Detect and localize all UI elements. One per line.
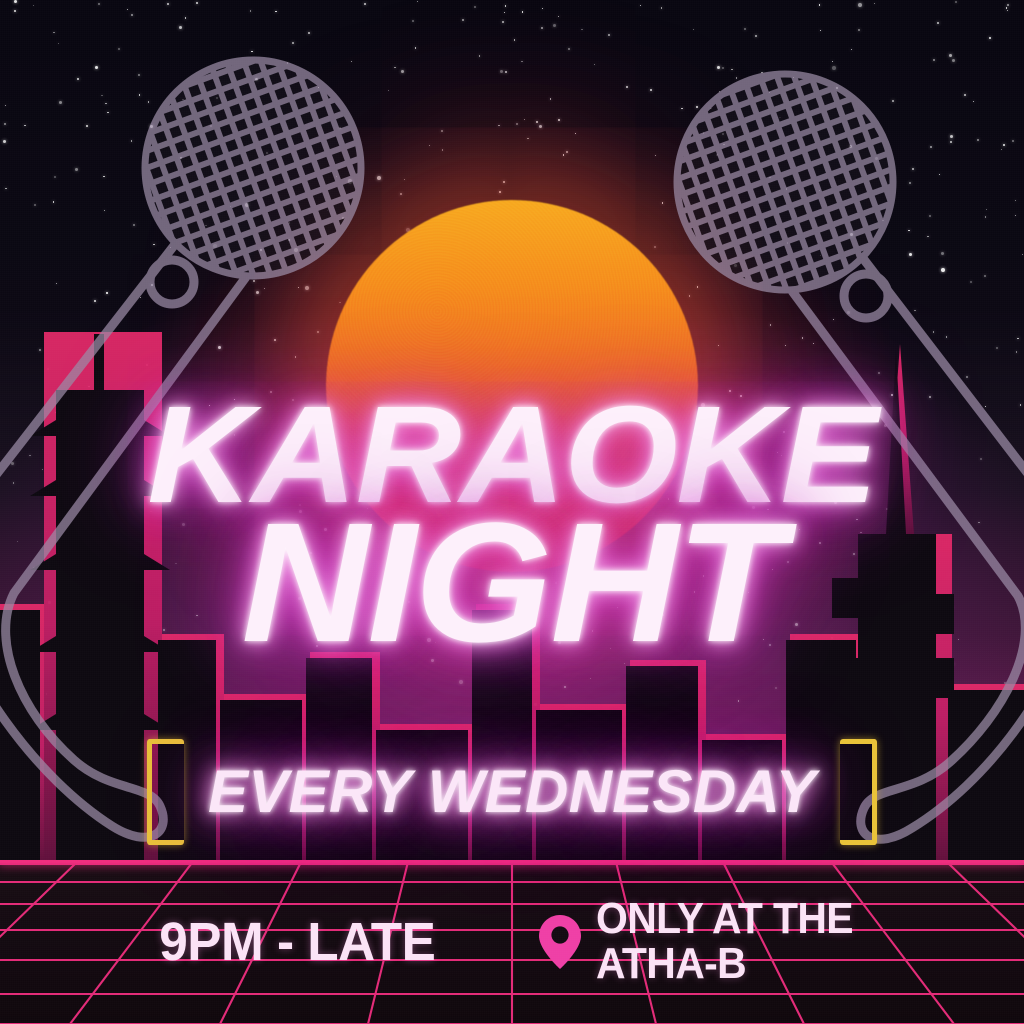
headline-block: KARAOKE NIGHT [0, 392, 1024, 661]
karaoke-night-poster: KARAOKE NIGHT EVERY WEDNESDAY [0, 0, 1024, 1024]
venue-lines: ONLY AT THE ATHA-B [596, 897, 853, 987]
event-info-bar: 9PM - LATE ONLY AT THE ATHA-B [0, 860, 1024, 1024]
subtitle-text: EVERY WEDNESDAY [208, 764, 816, 819]
event-venue: ONLY AT THE ATHA-B [538, 897, 872, 987]
venue-line-1: ONLY AT THE [596, 897, 853, 942]
venue-line-2: ATHA-B [596, 942, 853, 987]
event-time: 9PM - LATE [159, 911, 435, 973]
subtitle-block: EVERY WEDNESDAY [0, 740, 1024, 844]
bracket-right-icon [840, 739, 877, 845]
headline-line-2: NIGHT [0, 505, 1024, 661]
bracket-left-icon [147, 739, 184, 845]
location-pin-icon [538, 913, 582, 971]
